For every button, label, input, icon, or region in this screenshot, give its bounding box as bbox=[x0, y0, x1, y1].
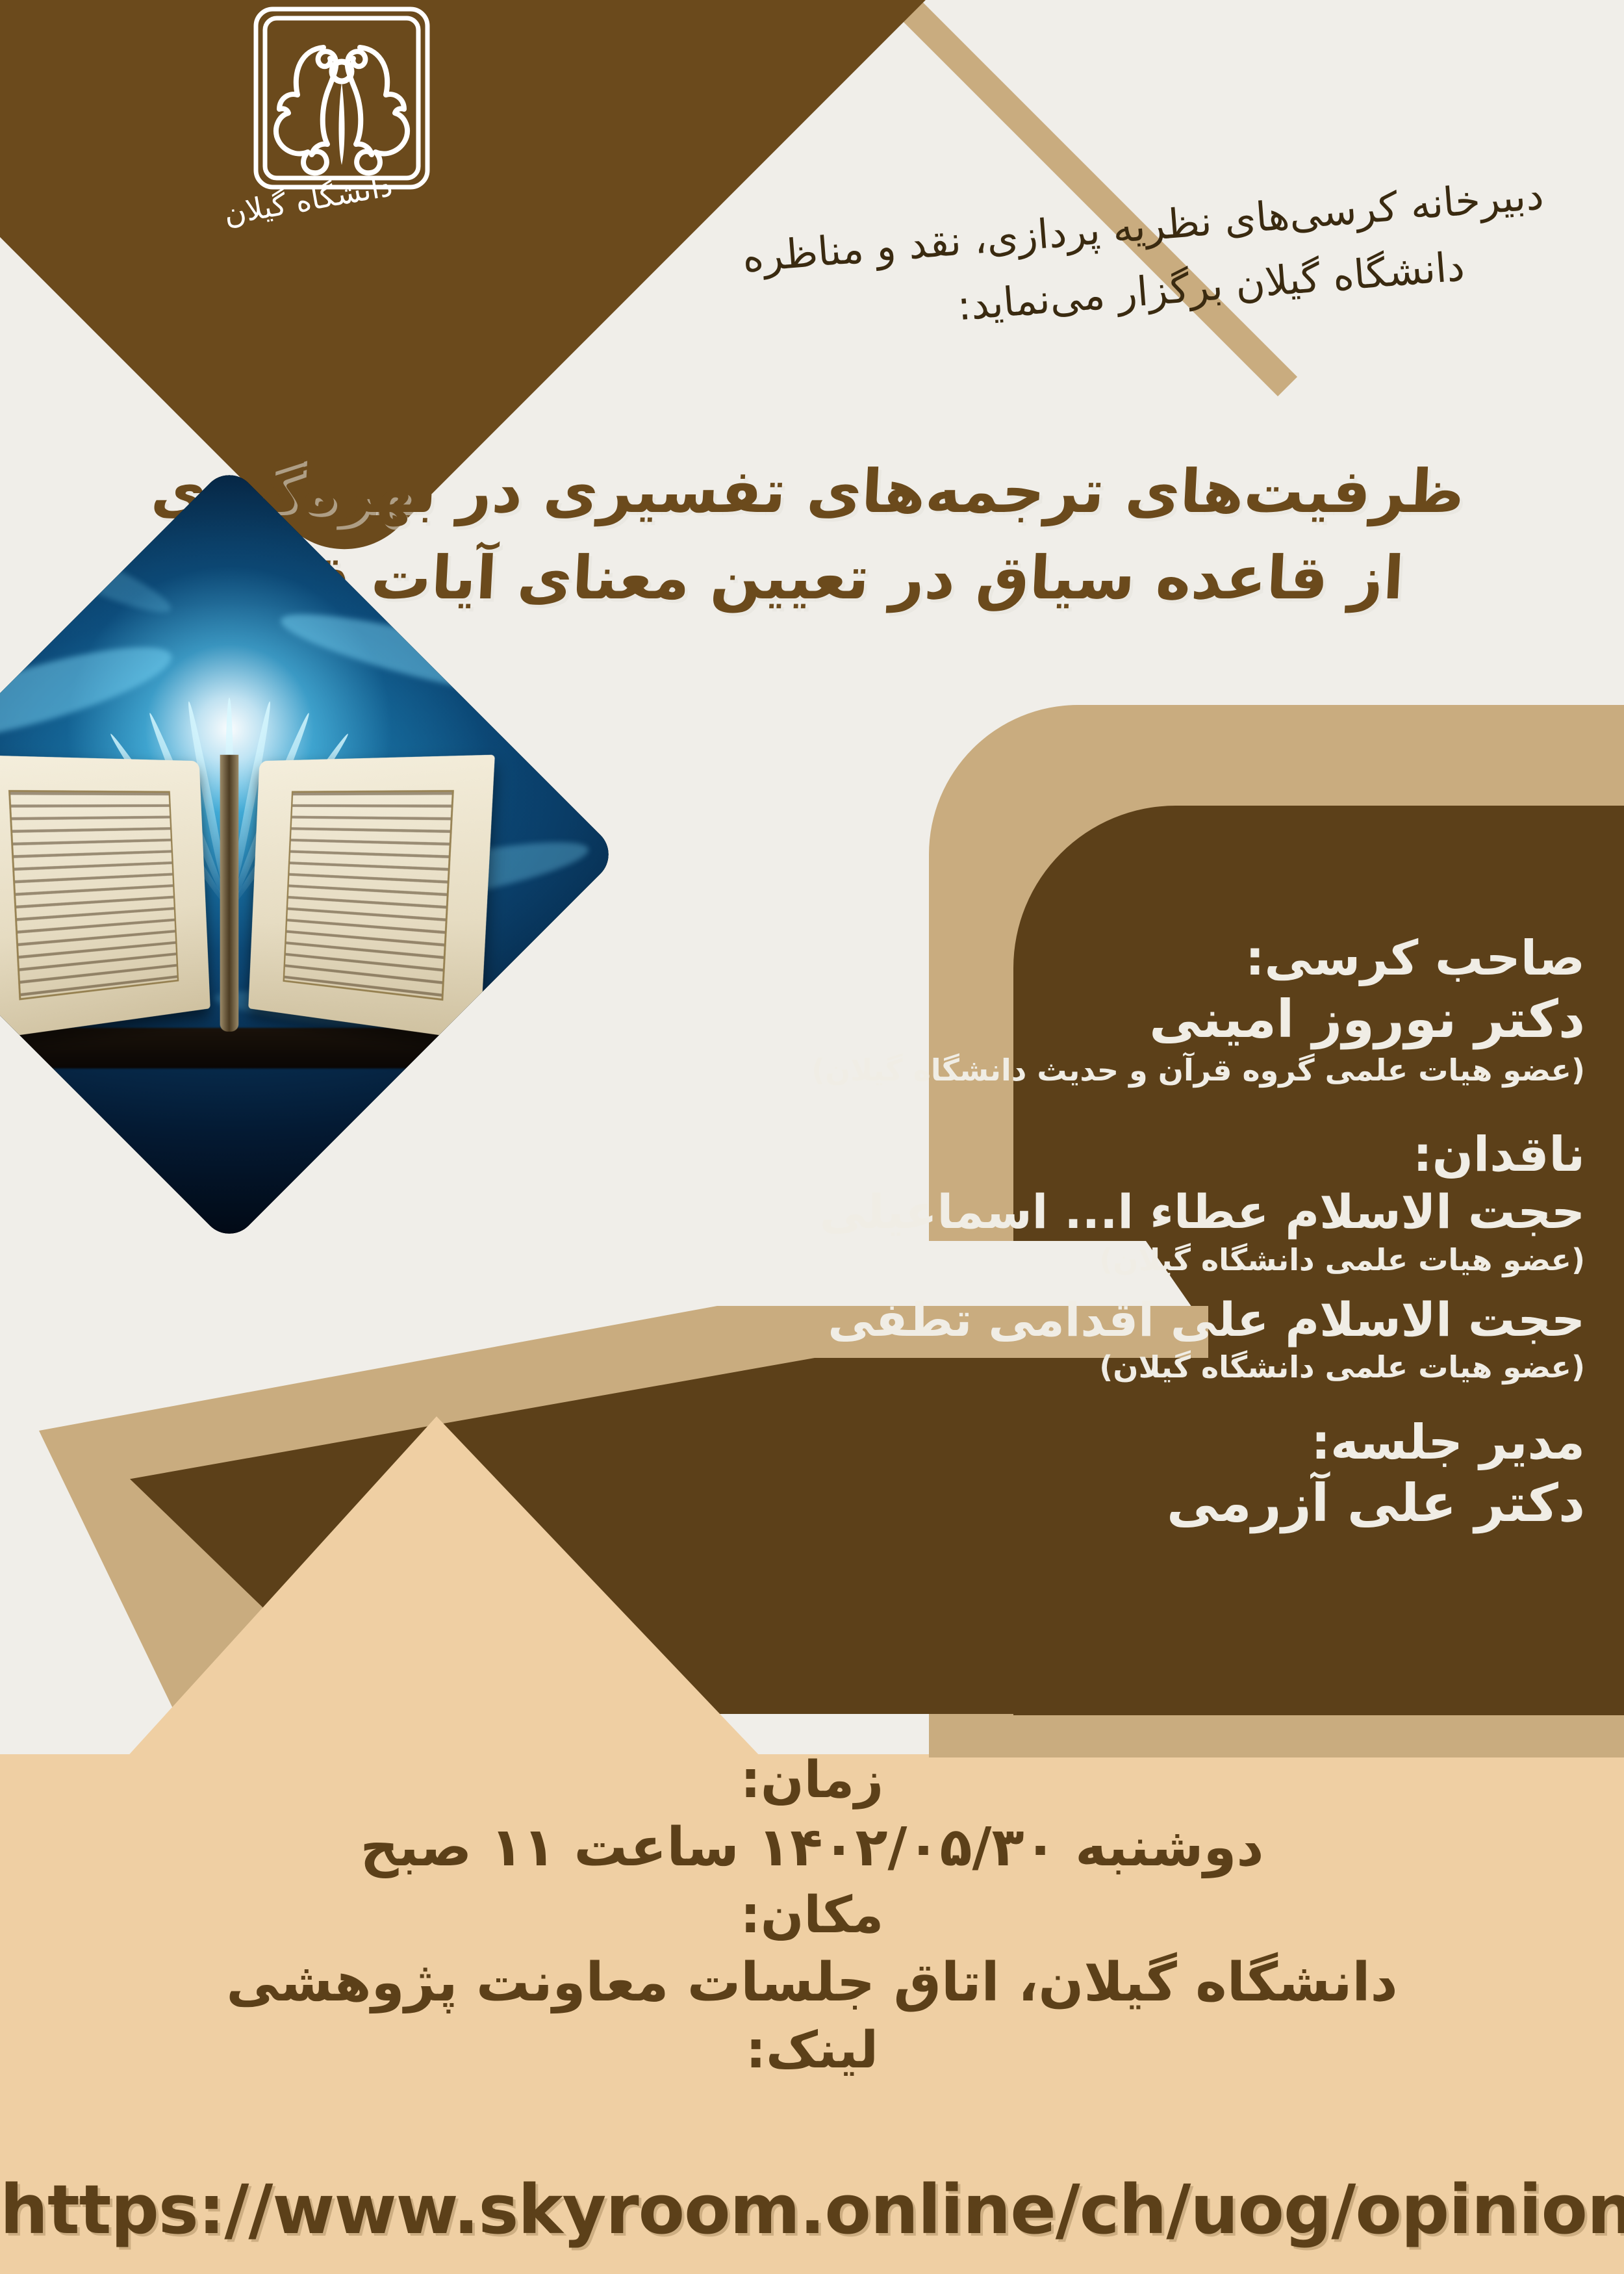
chair-name: دکتر نوروز امینی bbox=[546, 988, 1585, 1051]
spacer bbox=[546, 1387, 1585, 1413]
time-value: دوشنبه ۱۴۰۲/۰۵/۳۰ ساعت ۱۱ صبح bbox=[0, 1813, 1624, 1883]
place-label: مکان: bbox=[0, 1883, 1624, 1948]
book-page-left bbox=[0, 755, 210, 1041]
moderator-name: دکتر علی آزرمی bbox=[546, 1472, 1585, 1535]
book-text-block bbox=[283, 789, 455, 1001]
gilan-emblem-icon bbox=[251, 4, 433, 192]
critic-1-name: حجت الاسلام عطاء ا... اسماعیلی bbox=[546, 1184, 1585, 1241]
critic-2-name: حجت الاسلام علی اقدامی تطفی bbox=[546, 1292, 1585, 1349]
spacer bbox=[546, 1090, 1585, 1125]
spacer bbox=[546, 1280, 1585, 1292]
event-details: زمان: دوشنبه ۱۴۰۲/۰۵/۳۰ ساعت ۱۱ صبح مکان… bbox=[0, 1748, 1624, 2084]
event-poster: دانشگاه گیلان دبیرخانه کرسی‌های نظریه پر… bbox=[0, 0, 1624, 2274]
link-label: لینک: bbox=[0, 2018, 1624, 2084]
book-page-right bbox=[248, 755, 495, 1041]
chair-label: صاحب کرسی: bbox=[546, 929, 1585, 988]
place-value: دانشگاه گیلان، اتاق جلسات معاونت پژوهشی bbox=[0, 1948, 1624, 2018]
critic-2-affiliation: (عضو هیات علمی دانشگاه گیلان) bbox=[546, 1348, 1585, 1387]
time-label: زمان: bbox=[0, 1748, 1624, 1813]
critic-1-affiliation: (عضو هیات علمی دانشگاه گیلان) bbox=[546, 1241, 1585, 1280]
university-logo bbox=[251, 4, 433, 192]
critics-label: ناقدان: bbox=[546, 1125, 1585, 1184]
meeting-link[interactable]: https://www.skyroom.online/ch/uog/opinio… bbox=[0, 2170, 1624, 2249]
moderator-label: مدیر جلسه: bbox=[546, 1413, 1585, 1472]
book-text-block bbox=[8, 789, 179, 1000]
open-book-icon bbox=[0, 758, 488, 1044]
chair-affiliation: (عضو هیات علمی گروه قرآن و حدیث دانشگاه … bbox=[546, 1051, 1585, 1090]
participants-panel: صاحب کرسی: دکتر نوروز امینی (عضو هیات عل… bbox=[546, 929, 1585, 1535]
book-spine bbox=[220, 755, 238, 1032]
